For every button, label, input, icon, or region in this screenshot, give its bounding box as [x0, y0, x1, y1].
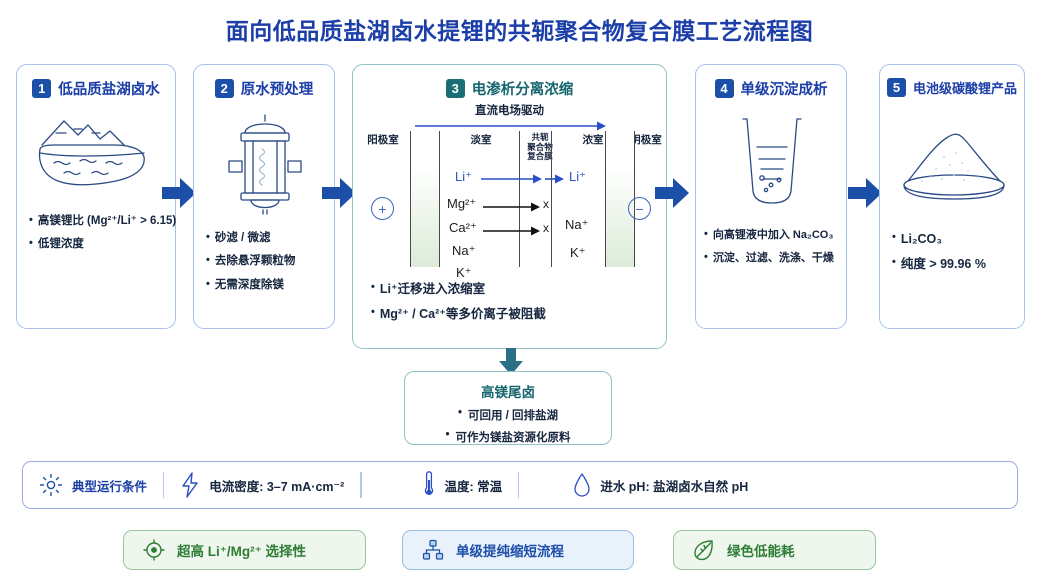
step-card-4: 4 单级沉淀成析 • 向高锂液中加入 Na₂CO₃ • 沉淀、过滤、洗涤、干燥 — [695, 64, 847, 329]
target-icon — [142, 538, 166, 562]
tailings-title: 高镁尾卤 — [405, 381, 611, 401]
salt-lake-icon — [34, 111, 160, 191]
ion-li-concentrate: Li⁺ — [569, 169, 586, 185]
bullet-item: • 无需深度除镁 — [206, 277, 326, 294]
condition-text: 电流密度: 3–7 mA·cm⁻² — [209, 476, 344, 495]
step-card-2: 2 原水预处理 • 砂滤 / 微滤 — [193, 64, 335, 329]
step-3-title: 电渗析分离浓缩 — [472, 78, 574, 99]
bullet-dot: • — [371, 280, 375, 296]
column-header-composite-membrane: 共轭聚合物复合膜 — [520, 133, 560, 162]
bullet-item: • 去除悬浮颗粒物 — [206, 253, 326, 270]
page-title: 面向低品质盐湖卤水提锂的共轭聚合物复合膜工艺流程图 — [0, 12, 1039, 46]
anode-symbol: + — [371, 197, 394, 220]
step-1-header: 1 低品质盐湖卤水 — [17, 78, 175, 99]
badge-green-energy: 绿色低能耗 — [673, 530, 876, 570]
step-5-bullets: • Li₂CO₃ • 纯度 > 99.96 % — [892, 230, 1016, 280]
step-4-header: 4 单级沉淀成析 — [696, 78, 846, 99]
badge-text: 超高 Li⁺/Mg²⁺ 选择性 — [177, 540, 306, 560]
step-card-1: 1 低品质盐湖卤水 • 高镁锂比 (Mg²⁺/Li⁺ > 6.15) — [16, 64, 176, 329]
step-2-header: 2 原水预处理 — [194, 78, 334, 99]
bullet-dot: • — [445, 429, 449, 445]
step-3-header: 3 电渗析分离浓缩 — [353, 78, 666, 99]
cathode-symbol: − — [628, 197, 651, 220]
bolt-icon — [180, 472, 200, 498]
bullet-item: • 砂滤 / 微滤 — [206, 230, 326, 247]
ion-k-concentrate: K⁺ — [570, 245, 586, 261]
bullet-text: 低锂浓度 — [38, 236, 84, 253]
ca-blocked-mark: x — [543, 221, 549, 235]
divider-line — [605, 131, 606, 267]
bullet-item: • Li⁺迁移进入浓缩室 — [371, 280, 658, 299]
bullet-item: • 纯度 > 99.96 % — [892, 255, 1016, 274]
bullet-text: Mg²⁺ / Ca²⁺等多价离子被阻截 — [380, 305, 546, 324]
ion-ca-dilute: Ca²⁺ — [449, 220, 477, 236]
bullet-item: • Li₂CO₃ — [892, 230, 1016, 249]
water-drop-icon — [573, 472, 591, 498]
ca-blocked-arrow — [483, 225, 541, 237]
bullet-text: 可回用 / 回排盐湖 — [468, 407, 558, 423]
tailings-box: 高镁尾卤 • 可回用 / 回排盐湖 • 可作为镁盐资源化原料 — [404, 371, 612, 445]
bullet-dot: • — [29, 236, 33, 252]
bullet-text: 高镁锂比 (Mg²⁺/Li⁺ > 6.15) — [38, 213, 176, 230]
bullet-text: 砂滤 / 微滤 — [215, 230, 271, 247]
bullet-dot: • — [704, 250, 708, 266]
conditions-label-text: 典型运行条件 — [72, 476, 147, 495]
badge-text: 绿色低能耗 — [727, 540, 795, 560]
bullet-dot: • — [892, 255, 896, 271]
bullet-text: Li⁺迁移进入浓缩室 — [380, 280, 485, 299]
badge-single-stage: 单级提纯缩短流程 — [402, 530, 634, 570]
conditions-label: 典型运行条件 — [23, 462, 163, 508]
step-1-title: 低品质盐湖卤水 — [58, 78, 160, 99]
step-2-bullets: • 砂滤 / 微滤 • 去除悬浮颗粒物 • 无需深度除镁 — [206, 230, 326, 300]
bullet-text: Li₂CO₃ — [901, 230, 942, 249]
mg-blocked-arrow — [483, 201, 541, 213]
arrow-step3-to-step4 — [653, 176, 691, 210]
mg-blocked-mark: x — [543, 197, 549, 211]
step-4-title: 单级沉淀成析 — [741, 78, 828, 99]
ion-na-dilute: Na⁺ — [452, 243, 475, 259]
step-4-number: 4 — [715, 79, 734, 98]
divider-line — [410, 131, 411, 267]
bullet-item: • 向高锂液中加入 Na₂CO₃ — [704, 227, 838, 244]
ion-na-concentrate: Na⁺ — [565, 217, 588, 233]
bullet-item: • Mg²⁺ / Ca²⁺等多价离子被阻截 — [371, 305, 658, 324]
filter-vessel-icon — [225, 111, 305, 217]
step-3-number: 3 — [446, 79, 465, 98]
bullet-item: • 高镁锂比 (Mg²⁺/Li⁺ > 6.15) — [29, 213, 167, 230]
aem-left-fill — [411, 131, 439, 267]
bullet-text: 沉淀、过滤、洗涤、干燥 — [713, 250, 834, 267]
divider-line — [551, 131, 552, 267]
beaker-icon — [735, 115, 809, 207]
column-header-anode: 阳极室 — [357, 135, 409, 147]
flowchart-page: 面向低品质盐湖卤水提锂的共轭聚合物复合膜工艺流程图 1 低品质盐湖卤水 • — [0, 0, 1039, 585]
bullet-text: 可作为镁盐资源化原料 — [456, 429, 571, 445]
condition-current-density: 电流密度: 3–7 mA·cm⁻² — [164, 462, 360, 508]
step-1-bullets: • 高镁锂比 (Mg²⁺/Li⁺ > 6.15) • 低锂浓度 — [29, 213, 167, 260]
bullet-text: 无需深度除镁 — [215, 277, 284, 294]
bullet-dot: • — [206, 277, 210, 293]
bullet-dot: • — [29, 213, 33, 229]
step-2-number: 2 — [215, 79, 234, 98]
bullet-text: 纯度 > 99.96 % — [901, 255, 986, 274]
badge-selectivity: 超高 Li⁺/Mg²⁺ 选择性 — [123, 530, 366, 570]
thermometer-icon — [422, 471, 436, 499]
bullet-dot: • — [371, 305, 375, 321]
bullet-text: 向高锂液中加入 Na₂CO₃ — [713, 227, 834, 244]
divider-line — [519, 131, 520, 267]
hierarchy-icon — [421, 538, 445, 562]
step-5-title: 电池级碳酸锂产品 — [913, 78, 1017, 97]
bullet-item: • 低锂浓度 — [29, 236, 167, 253]
step-3-bullets: • Li⁺迁移进入浓缩室 • Mg²⁺ / Ca²⁺等多价离子被阻截 — [371, 280, 658, 330]
powder-pile-icon — [896, 127, 1012, 209]
condition-text: 进水 pH: 盐湖卤水自然 pH — [600, 476, 748, 495]
drive-field-arrow — [415, 120, 607, 132]
aem-right-fill — [606, 131, 634, 267]
bullet-dot: • — [458, 407, 462, 423]
tailings-bullet: • 可回用 / 回排盐湖 — [405, 407, 611, 423]
li-transport-arrow — [481, 173, 565, 185]
step-2-title: 原水预处理 — [241, 78, 314, 99]
ion-li-dilute: Li⁺ — [455, 169, 472, 185]
step-card-5: 5 电池级碳酸锂产品 • Li₂CO₃ — [879, 64, 1025, 329]
bullet-dot: • — [704, 227, 708, 243]
step-5-header: 5 电池级碳酸锂产品 — [880, 78, 1024, 97]
conditions-bar: 典型运行条件 电流密度: 3–7 mA·cm⁻² 温度: 常温 — [22, 461, 1018, 509]
step-5-number: 5 — [887, 78, 906, 97]
tailings-bullet: • 可作为镁盐资源化原料 — [405, 429, 611, 445]
leaf-icon — [692, 538, 716, 562]
bullet-dot: • — [206, 253, 210, 269]
divider-line — [439, 131, 440, 267]
ion-mg-dilute: Mg²⁺ — [447, 196, 476, 212]
step-card-3: 3 电渗析分离浓缩 直流电场驱动 阳极室 AEM 淡室 共轭聚合物复合膜 浓室 … — [352, 64, 667, 349]
bullet-dot: • — [206, 230, 210, 246]
condition-temperature: 温度: 常温 — [362, 462, 519, 508]
bullet-dot: • — [892, 230, 896, 246]
drive-field-label: 直流电场驱动 — [353, 102, 666, 118]
bullet-item: • 沉淀、过滤、洗涤、干燥 — [704, 250, 838, 267]
step-1-number: 1 — [32, 79, 51, 98]
bullet-text: 去除悬浮颗粒物 — [215, 253, 296, 270]
gear-icon — [39, 473, 63, 497]
condition-text: 温度: 常温 — [445, 476, 503, 495]
badge-text: 单级提纯缩短流程 — [456, 540, 564, 560]
column-header-dilute: 淡室 — [443, 135, 519, 147]
condition-ph: 进水 pH: 盐湖卤水自然 pH — [519, 462, 764, 508]
step-4-bullets: • 向高锂液中加入 Na₂CO₃ • 沉淀、过滤、洗涤、干燥 — [704, 227, 838, 272]
ion-k-dilute: K⁺ — [456, 265, 472, 281]
